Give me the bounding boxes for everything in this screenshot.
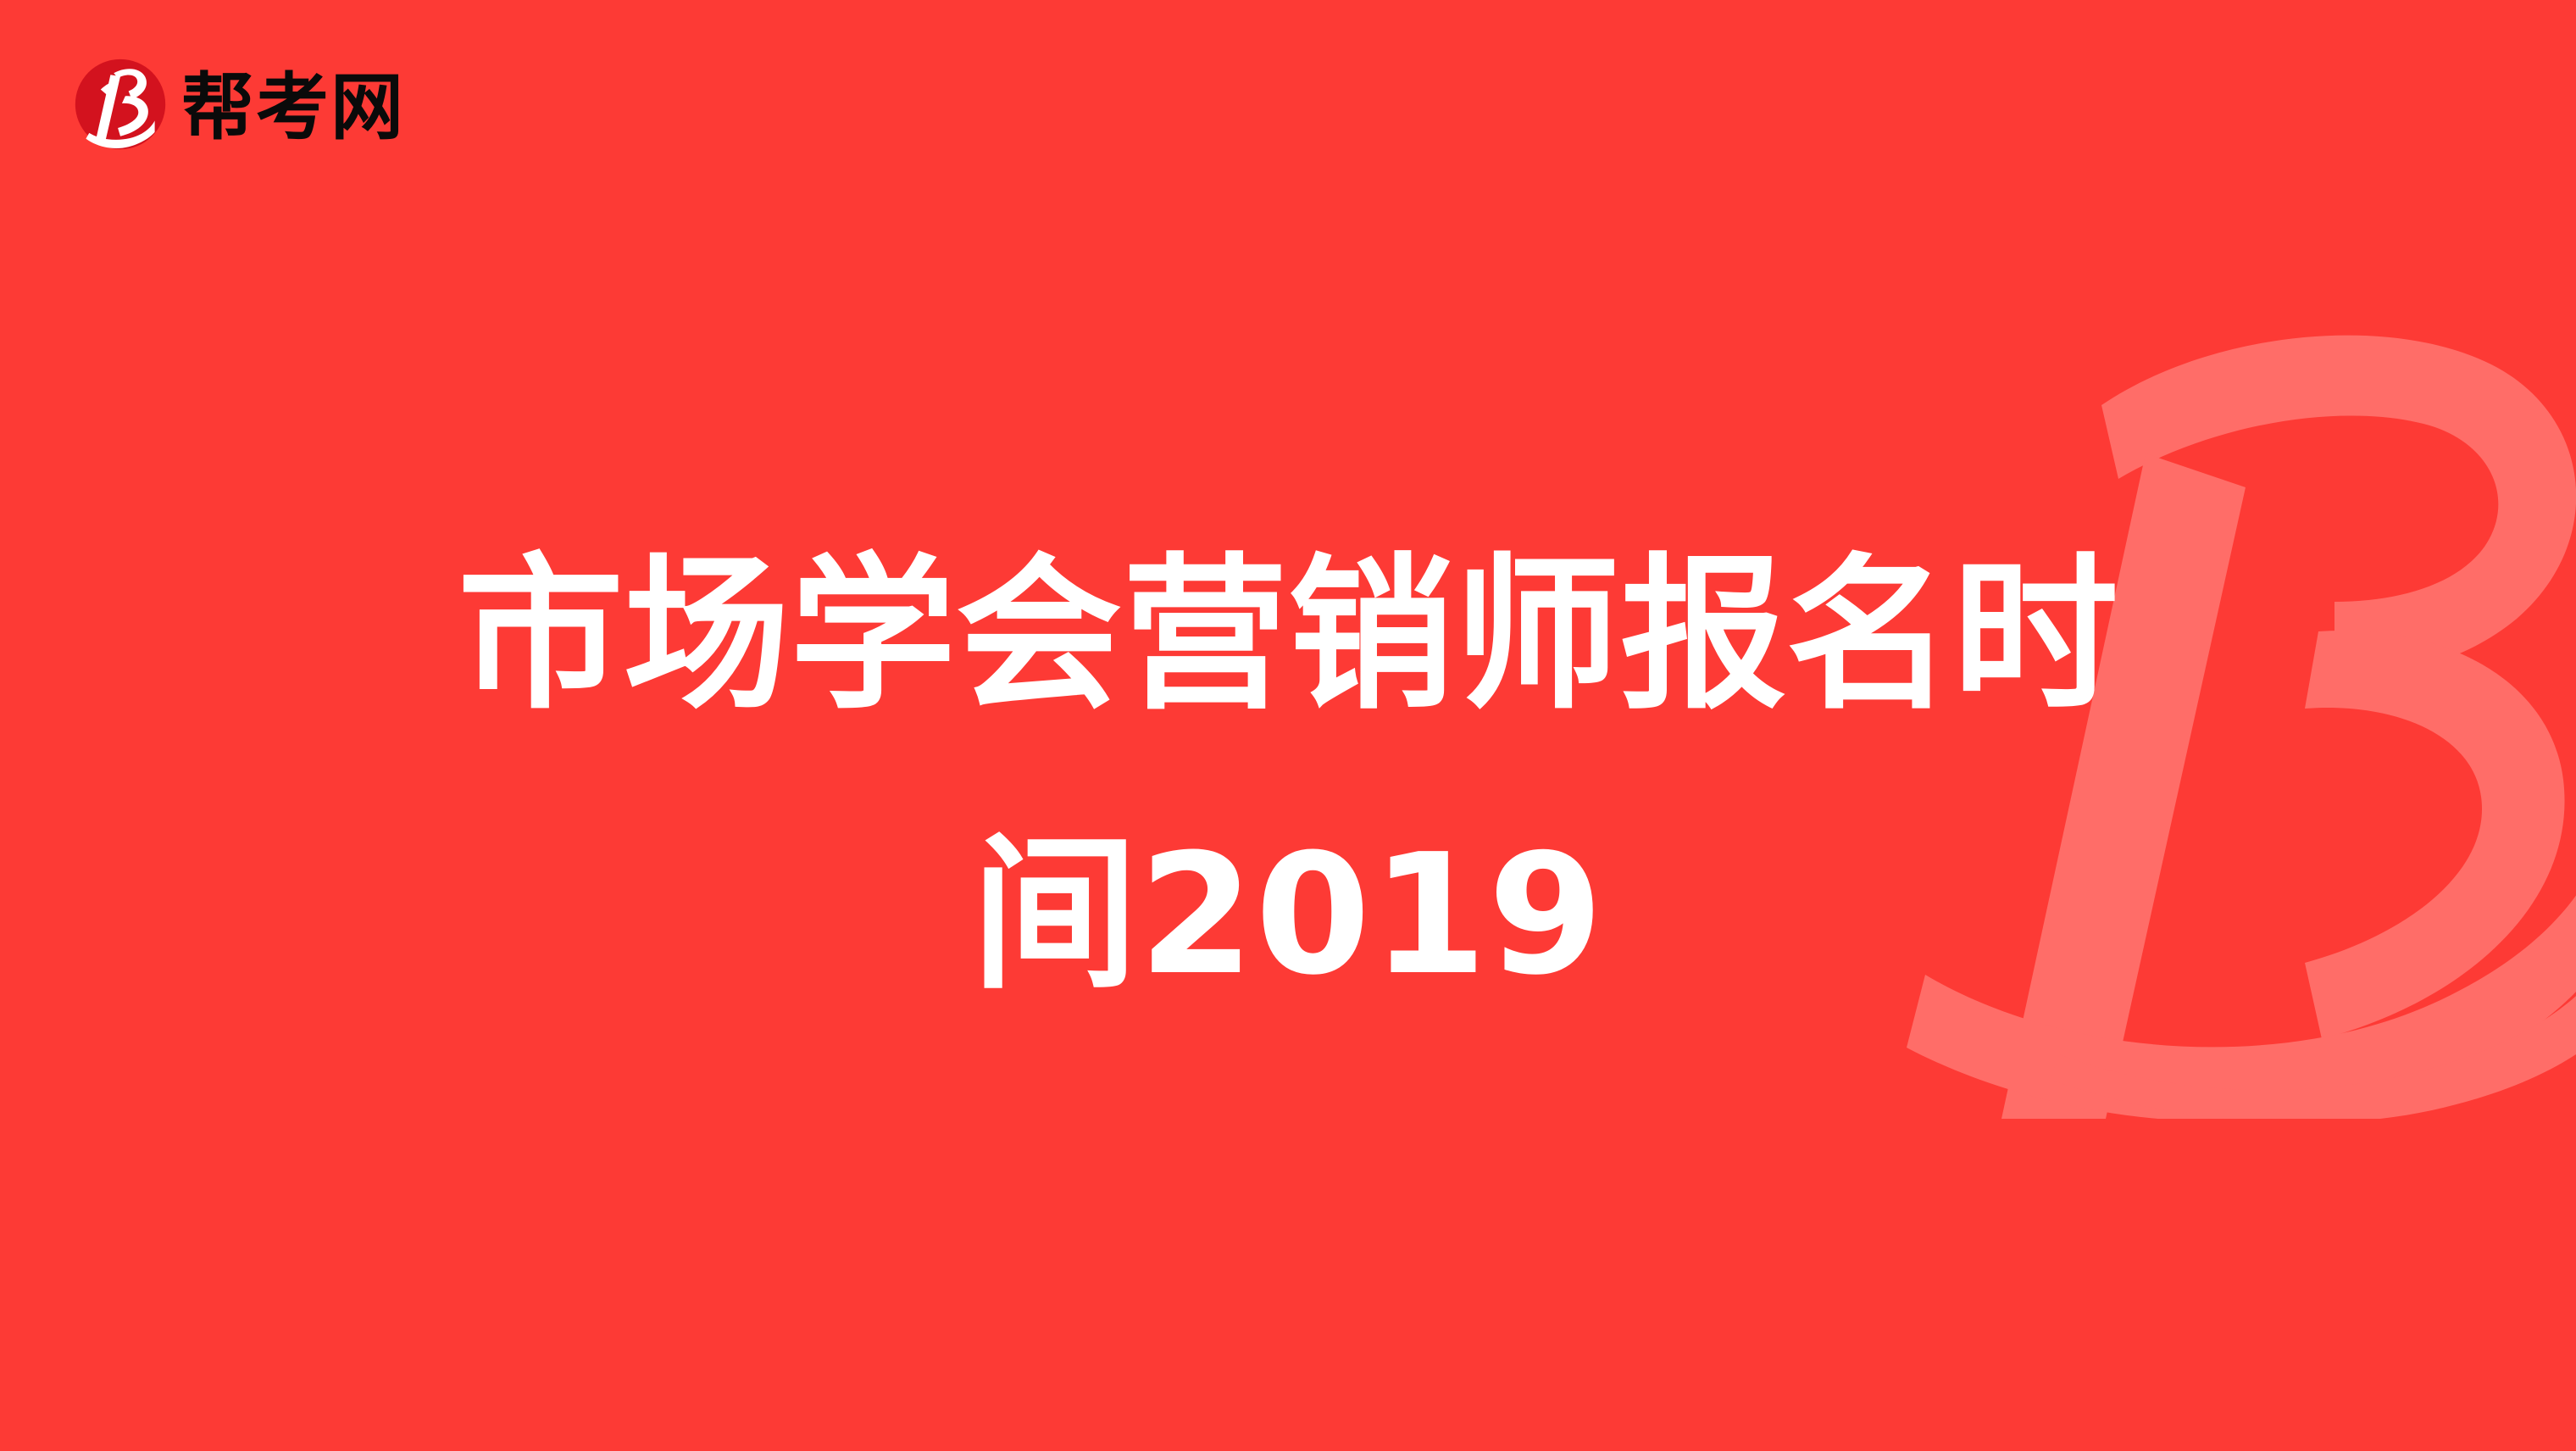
brand-wordmark: 帮考网 bbox=[181, 71, 405, 144]
page-title-line-1: 市场学会营销师报名时 bbox=[0, 496, 2576, 776]
b-monogram-circle-icon bbox=[71, 55, 169, 153]
page-title: 市场学会营销师报名时 间2019 bbox=[0, 496, 2576, 1055]
page-title-line-2: 间2019 bbox=[0, 776, 2576, 1055]
brand-logo[interactable]: 帮考网 bbox=[71, 49, 405, 159]
poster-canvas: 帮考网 市场学会营销师报名时 间2019 bbox=[0, 0, 2576, 1451]
